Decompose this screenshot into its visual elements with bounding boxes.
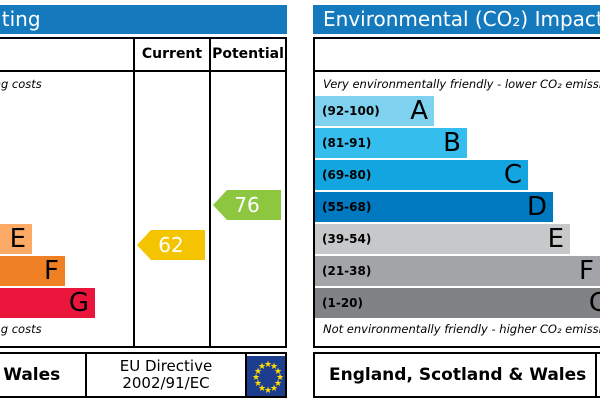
energy-band-f: (21-38) F — [0, 256, 65, 286]
co2-band-c-letter: C — [504, 162, 522, 188]
co2-chart-body: Very environmentally friendly - lower CO… — [315, 72, 600, 346]
energy-directive-line-2: 2002/91/EC — [122, 374, 209, 392]
energy-chart-frame: Current Potential Very energy efficient … — [0, 37, 287, 348]
energy-chart-body: Very energy efficient - lower running co… — [0, 72, 285, 346]
energy-top-note: Very energy efficient - lower running co… — [0, 77, 42, 91]
energy-potential-rating-arrow: 76 — [213, 190, 281, 220]
energy-body-divider-1 — [133, 72, 135, 346]
co2-band-d: (55-68) D — [315, 192, 553, 222]
co2-band-d-range: (55-68) — [322, 192, 371, 222]
co2-band-b-range: (81-91) — [322, 128, 371, 158]
energy-band-e: (39-54) E — [0, 224, 32, 254]
co2-footer-divider-1 — [595, 354, 597, 396]
co2-band-e-range: (39-54) — [322, 224, 371, 254]
energy-band-e-letter: E — [10, 226, 26, 252]
energy-footer-directive: EU Directive 2002/91/EC — [89, 358, 243, 393]
energy-band-f-letter: F — [44, 258, 59, 284]
co2-footer: England, Scotland & Wales EU Directive 2… — [313, 352, 600, 398]
co2-panel-title: Environmental (CO₂) Impact Rating — [313, 5, 600, 34]
co2-band-f: (21-38) F — [315, 256, 600, 286]
co2-table-header: Current Potential — [315, 39, 600, 72]
co2-bottom-note: Not environmentally friendly - higher CO… — [323, 322, 600, 336]
energy-panel-title: Energy Efficiency Rating — [0, 5, 287, 34]
co2-band-a-letter: A — [410, 98, 428, 124]
co2-footer-region: England, Scotland & Wales — [329, 365, 586, 385]
co2-band-e-letter: E — [548, 226, 564, 252]
co2-band-g-letter: G — [589, 290, 600, 316]
energy-body-divider-2 — [209, 72, 211, 346]
co2-band-g: (1-20) G — [315, 288, 600, 318]
co2-band-c: (69-80) C — [315, 160, 528, 190]
co2-band-a-range: (92-100) — [322, 96, 380, 126]
energy-directive-line-1: EU Directive — [120, 357, 212, 375]
co2-band-c-range: (69-80) — [322, 160, 371, 190]
co2-band-b: (81-91) B — [315, 128, 467, 158]
co2-band-d-letter: D — [527, 194, 547, 220]
energy-footer-region: England, Scotland & Wales — [0, 365, 60, 385]
co2-top-note: Very environmentally friendly - lower CO… — [323, 77, 600, 91]
co2-band-f-range: (21-38) — [322, 256, 371, 286]
co2-band-b-letter: B — [443, 130, 461, 156]
energy-panel-title-text: Energy Efficiency Rating — [0, 7, 41, 31]
energy-table-header: Current Potential — [0, 39, 285, 72]
energy-column-header-potential: Potential — [211, 39, 285, 70]
co2-band-a: (92-100) A — [315, 96, 434, 126]
energy-efficiency-rating-panel: Energy Efficiency Rating Current Potenti… — [0, 0, 287, 404]
energy-band-g: (1-20) G — [0, 288, 95, 318]
co2-panel-title-text: Environmental (CO₂) Impact Rating — [323, 7, 600, 31]
energy-current-rating-arrow: 62 — [137, 230, 205, 260]
co2-chart-frame: Current Potential Very environmentally f… — [313, 37, 600, 348]
energy-footer-divider-1 — [85, 354, 87, 396]
energy-band-g-letter: G — [69, 290, 89, 316]
co2-band-e: (39-54) E — [315, 224, 570, 254]
environmental-co2-impact-rating-panel: Environmental (CO₂) Impact Rating Curren… — [313, 0, 600, 404]
eu-flag-icon: ★ ★ ★ ★ ★ ★ ★ ★ ★ ★ ★ ★ — [247, 356, 285, 396]
energy-column-header-current: Current — [135, 39, 209, 70]
co2-band-f-letter: F — [579, 258, 594, 284]
energy-footer: England, Scotland & Wales EU Directive 2… — [0, 352, 287, 398]
energy-bottom-note: Not energy efficient - higher running co… — [0, 322, 42, 336]
co2-band-g-range: (1-20) — [322, 288, 363, 318]
